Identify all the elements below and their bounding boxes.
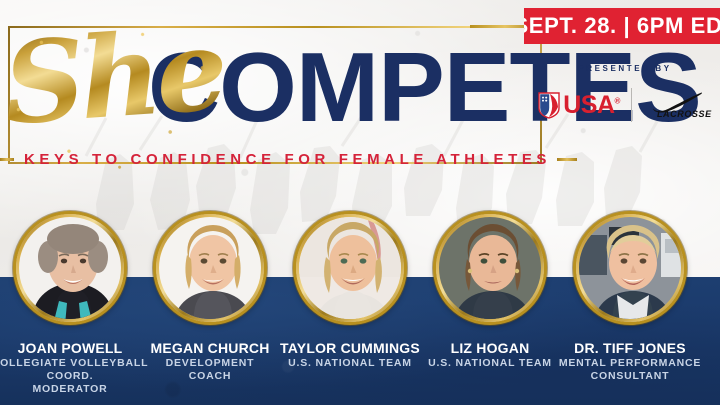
she-competes-promo-graphic: She COMPETES KEYS TO CONFIDENCE FOR FEMA… (0, 0, 720, 405)
avatar (573, 211, 687, 325)
speaker-card-joan-powell: JOAN POWELL COLLEGIATE VOLLEYBALL COORD.… (0, 0, 140, 405)
speaker-card-liz-hogan: LIZ HOGAN U.S. NATIONAL TEAM (420, 0, 560, 405)
avatar (13, 211, 127, 325)
speaker-name: DR. TIFF JONES (546, 340, 714, 356)
avatar (293, 211, 407, 325)
taylor-cummings-headshot (299, 217, 401, 319)
speaker-card-dr-tiff-jones: DR. TIFF JONES MENTAL PERFORMANCE CONSUL… (560, 0, 700, 405)
joan-powell-headshot (19, 217, 121, 319)
speaker-card-taylor-cummings: TAYLOR CUMMINGS U.S. NATIONAL TEAM (280, 0, 420, 405)
liz-hogan-headshot (439, 217, 541, 319)
megan-church-headshot (159, 217, 261, 319)
speaker-lineup: JOAN POWELL COLLEGIATE VOLLEYBALL COORD.… (0, 0, 720, 405)
dr-tiff-jones-headshot (579, 217, 681, 319)
avatar (153, 211, 267, 325)
speaker-title: MENTAL PERFORMANCE CONSULTANT (546, 357, 714, 383)
speaker-card-megan-church: MEGAN CHURCH DEVELOPMENT COACH (140, 0, 280, 405)
avatar (433, 211, 547, 325)
